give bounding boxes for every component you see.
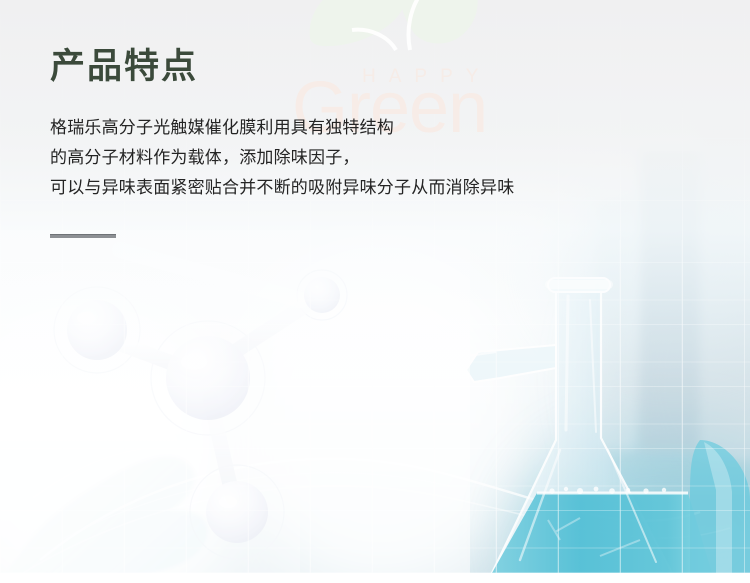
description-line: 可以与异味表面紧密贴合并不断的吸附异味分子从而消除异味 bbox=[50, 173, 514, 203]
description-line: 的高分子材料作为载体，添加除味因子， bbox=[50, 143, 514, 173]
feature-description: 格瑞乐高分子光触媒催化膜利用具有独特结构 的高分子材料作为载体，添加除味因子， … bbox=[50, 113, 514, 203]
page-title: 产品特点 bbox=[50, 46, 198, 88]
description-line: 格瑞乐高分子光触媒催化膜利用具有独特结构 bbox=[50, 113, 514, 143]
product-feature-banner: HAPPY Green 产品特点 格瑞乐高分子光触媒催化膜利用具有独特结构 的高… bbox=[0, 0, 750, 583]
bottom-white-strip bbox=[0, 573, 750, 583]
section-divider bbox=[50, 234, 116, 238]
